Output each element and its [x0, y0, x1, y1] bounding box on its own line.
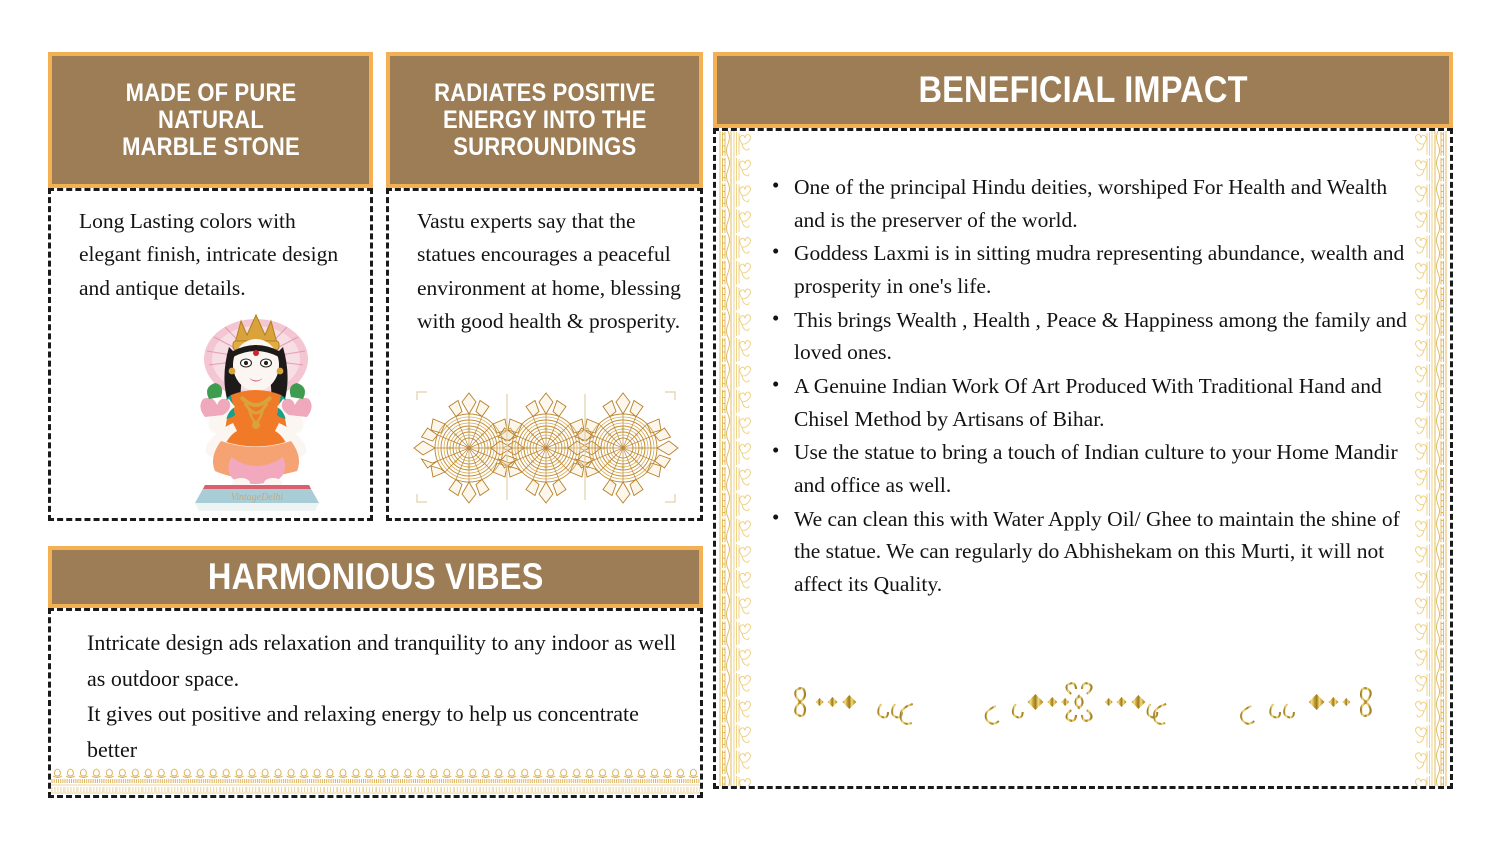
harmony-body-text: Intricate design ads relaxation and tran… — [51, 611, 700, 768]
list-item: One of the principal Hindu deities, wors… — [794, 171, 1410, 236]
panel-body-harmony: Intricate design ads relaxation and tran… — [48, 608, 703, 798]
list-item: A Genuine Indian Work Of Art Produced Wi… — [794, 370, 1410, 435]
panel-header-harmony: HARMONIOUS VIBES — [48, 546, 703, 608]
gold-side-border-left-icon — [718, 131, 752, 786]
harmony-body-line-1: Intricate design ads relaxation and tran… — [87, 625, 680, 696]
panel-header-energy: RADIATES POSITIVE ENERGY INTO THE SURROU… — [386, 52, 703, 188]
list-item: Goddess Laxmi is in sitting mudra repres… — [794, 237, 1410, 302]
lakshmi-marble-statue-image: VintageDelhi — [169, 307, 344, 512]
gold-ornamental-band-icon — [51, 767, 700, 795]
panel-header-impact-title: BENEFICIAL IMPACT — [918, 70, 1247, 110]
panel-header-marble-title: MADE OF PURE NATURAL MARBLE STONE — [122, 80, 300, 161]
svg-text:VintageDelhi: VintageDelhi — [231, 492, 284, 503]
gold-mandala-strip-image — [407, 386, 685, 508]
harmony-body-line-2: It gives out positive and relaxing energ… — [87, 696, 680, 767]
beneficial-impact-bullet-list: One of the principal Hindu deities, wors… — [716, 131, 1450, 601]
panel-harmonious-vibes: HARMONIOUS VIBES Intricate design ads re… — [48, 546, 703, 798]
panel-body-impact: One of the principal Hindu deities, wors… — [713, 128, 1453, 789]
energy-body-text: Vastu experts say that the statues encou… — [389, 191, 700, 338]
panel-header-marble: MADE OF PURE NATURAL MARBLE STONE — [48, 52, 373, 188]
panel-body-marble: Long Lasting colors with elegant finish,… — [48, 188, 373, 521]
gold-filigree-divider-icon — [786, 682, 1380, 728]
list-item: We can clean this with Water Apply Oil/ … — [794, 503, 1410, 601]
gold-side-border-right-icon — [1414, 131, 1448, 786]
marble-body-text: Long Lasting colors with elegant finish,… — [51, 191, 370, 305]
panel-radiates-positive-energy: RADIATES POSITIVE ENERGY INTO THE SURROU… — [386, 52, 703, 521]
panel-beneficial-impact: BENEFICIAL IMPACT — [713, 52, 1453, 789]
panel-header-harmony-title: HARMONIOUS VIBES — [208, 557, 544, 597]
panel-body-energy: Vastu experts say that the statues encou… — [386, 188, 703, 521]
panel-header-energy-title: RADIATES POSITIVE ENERGY INTO THE SURROU… — [434, 80, 655, 161]
panel-header-impact: BENEFICIAL IMPACT — [713, 52, 1453, 128]
list-item: Use the statue to bring a touch of India… — [794, 436, 1410, 501]
list-item: This brings Wealth , Health , Peace & Ha… — [794, 304, 1410, 369]
panel-made-of-pure-natural-marble-stone: MADE OF PURE NATURAL MARBLE STONE Long L… — [48, 52, 373, 521]
